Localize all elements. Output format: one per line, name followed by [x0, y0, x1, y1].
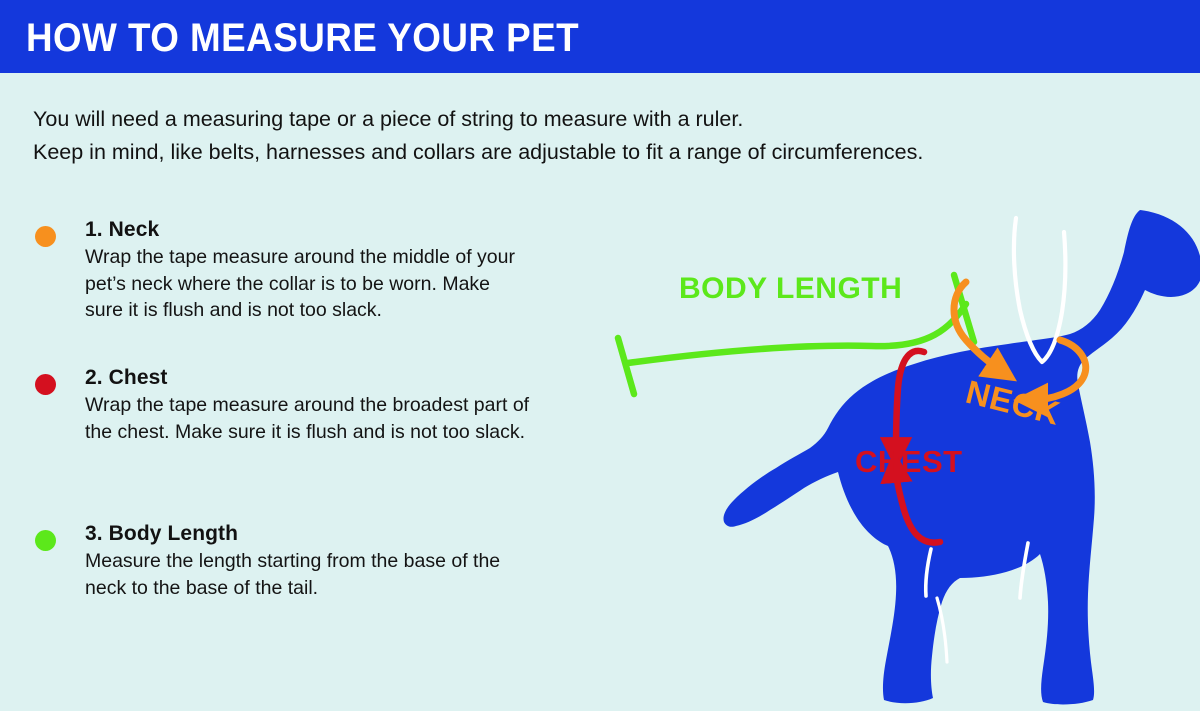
list-item: 2. Chest Wrap the tape measure around th… [33, 366, 533, 496]
header-banner: HOW TO MEASURE YOUR PET [0, 0, 1200, 73]
intro-line-2: Keep in mind, like belts, harnesses and … [33, 136, 1073, 169]
dog-diagram: BODY LENGTH NECK CHEST [500, 170, 1200, 711]
intro-text: You will need a measuring tape or a piec… [33, 103, 1073, 169]
steps-list: 1. Neck Wrap the tape measure around the… [33, 218, 533, 648]
step-title-body-length: 3. Body Length [85, 522, 533, 546]
dog-leg-crease-line [937, 598, 947, 662]
step-text-body-length: Measure the length starting from the bas… [85, 548, 533, 601]
step-text-chest: Wrap the tape measure around the broades… [85, 392, 533, 445]
list-item: 3. Body Length Measure the length starti… [33, 522, 533, 622]
infographic-page: HOW TO MEASURE YOUR PET You will need a … [0, 0, 1200, 711]
bullet-icon-body-length [35, 530, 56, 551]
bullet-icon-neck [35, 226, 56, 247]
step-text-neck: Wrap the tape measure around the middle … [85, 244, 533, 324]
list-item: 1. Neck Wrap the tape measure around the… [33, 218, 533, 340]
body-length-label: BODY LENGTH [679, 272, 902, 305]
bullet-icon-chest [35, 374, 56, 395]
step-title-neck: 1. Neck [85, 218, 533, 242]
body-length-start-tick [618, 338, 634, 394]
chest-label: CHEST [855, 444, 963, 479]
step-title-chest: 2. Chest [85, 366, 533, 390]
page-title: HOW TO MEASURE YOUR PET [26, 16, 579, 61]
intro-line-1: You will need a measuring tape or a piec… [33, 103, 1073, 136]
